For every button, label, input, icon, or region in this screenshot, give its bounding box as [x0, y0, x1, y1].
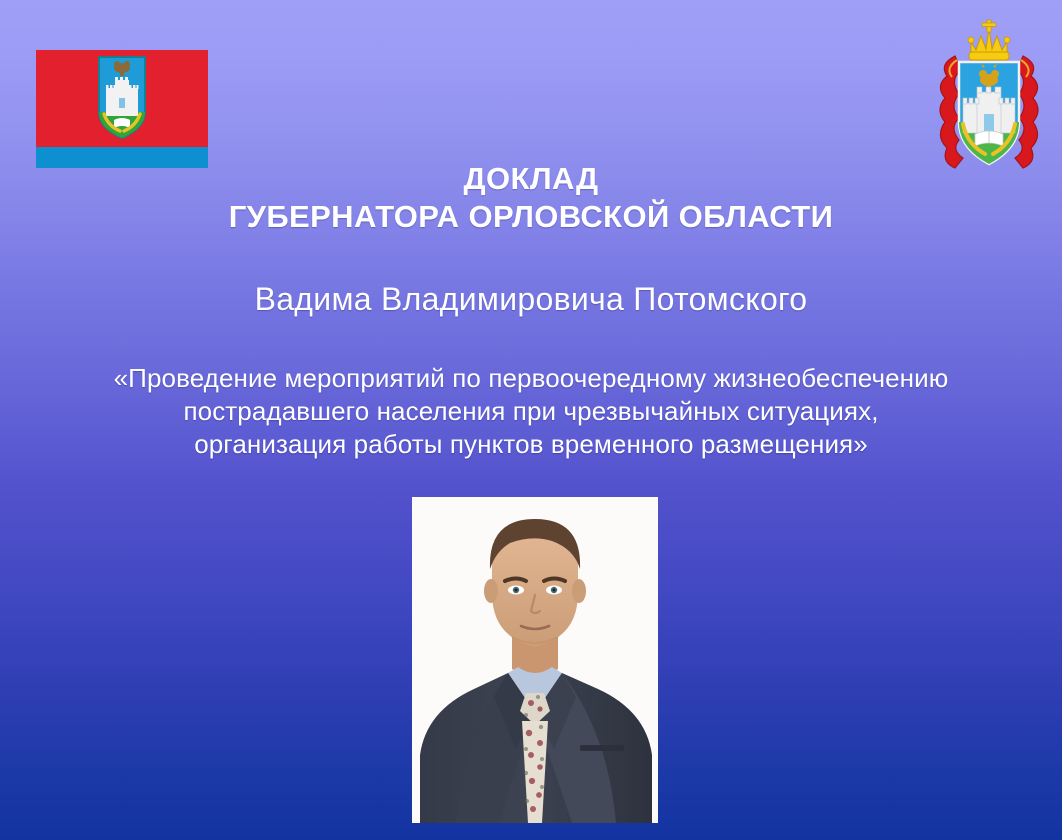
- report-subject-quote: «Проведение мероприятий по первоочередно…: [40, 362, 1022, 461]
- slide-title: ДОКЛАД ГУБЕРНАТОРА ОРЛОВСКОЙ ОБЛАСТИ: [0, 160, 1062, 236]
- presentation-slide: ДОКЛАД ГУБЕРНАТОРА ОРЛОВСКОЙ ОБЛАСТИ Вад…: [0, 0, 1062, 840]
- governor-portrait-photo: [412, 497, 658, 823]
- flag-emblem-icon: [96, 54, 148, 140]
- title-line-1: ДОКЛАД: [0, 160, 1062, 198]
- orlov-region-flag: [36, 50, 208, 168]
- quote-line-1: «Проведение мероприятий по первоочередно…: [40, 362, 1022, 395]
- orlov-region-coat-of-arms-icon: [933, 18, 1045, 176]
- quote-line-2: пострадавшего населения при чрезвычайных…: [40, 395, 1022, 428]
- quote-line-3: организация работы пунктов временного ра…: [40, 428, 1022, 461]
- governor-name: Вадима Владимировича Потомского: [0, 278, 1062, 320]
- title-line-2: ГУБЕРНАТОРА ОРЛОВСКОЙ ОБЛАСТИ: [0, 198, 1062, 236]
